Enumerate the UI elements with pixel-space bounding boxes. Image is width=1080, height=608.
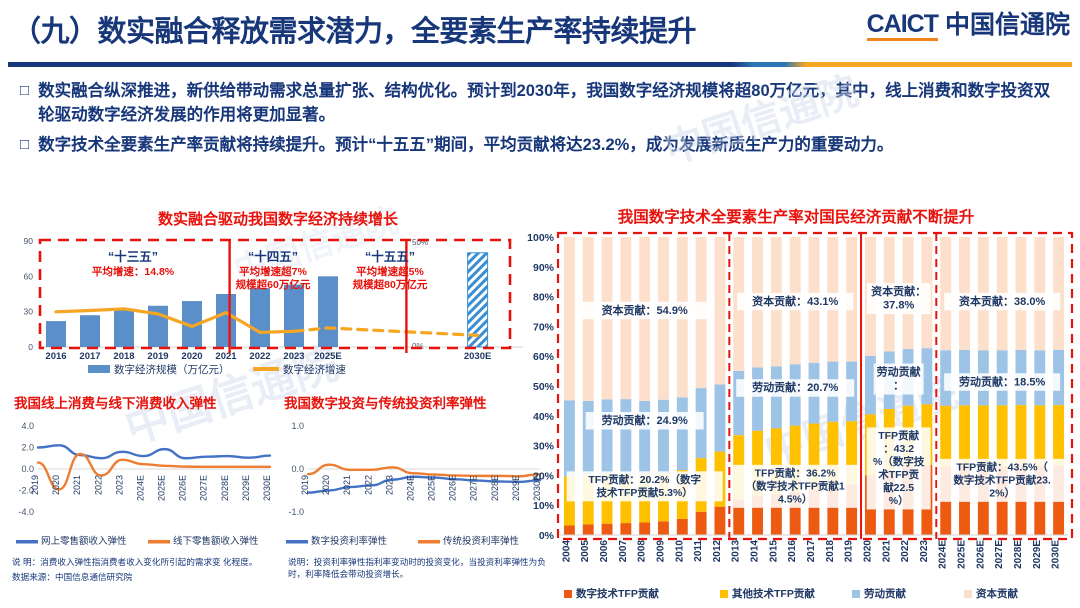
bar (284, 285, 304, 347)
annotation-line: 平均增速超5% (356, 265, 424, 278)
stacked-bar-segment (564, 400, 575, 476)
svg-text:数字技术TFP贡献23.: 数字技术TFP贡献23. (952, 473, 1051, 486)
x-tick-label: 2023 (384, 475, 394, 495)
y-tick-label: 50% (533, 381, 555, 393)
x-tick-label: 2025E (157, 475, 167, 501)
svg-text:数字投资利率弹性: 数字投资利率弹性 (311, 535, 388, 547)
svg-text:线下零售额收入弹性: 线下零售额收入弹性 (173, 535, 259, 547)
x-tick-label: 2027E (469, 475, 479, 501)
svg-text:2018: 2018 (113, 351, 134, 362)
bar (114, 310, 134, 347)
svg-text:%）: %） (889, 494, 909, 507)
x-tick-label: 2030E (262, 475, 272, 501)
page-header: （九）数实融合释放需求潜力，全要素生产率持续提升 CAICT 中国信通院 (0, 0, 1080, 70)
bar (318, 276, 338, 347)
annotation-title: “十五五” (365, 249, 415, 264)
bar (80, 315, 100, 347)
stacked-bar-segment (714, 385, 725, 452)
stacked-bar-segment (620, 523, 631, 535)
svg-text:资本贡献: 资本贡献 (976, 587, 1018, 600)
svg-text:4.5%）: 4.5%） (778, 492, 812, 505)
x-tick-label: 2011 (693, 540, 704, 562)
svg-text:资本贡献：43.1%: 资本贡献：43.1% (752, 294, 838, 308)
x-tick-label: 2019 (844, 540, 855, 563)
x-tick-label: 2004 (561, 540, 572, 563)
svg-text:37.8%: 37.8% (883, 300, 914, 312)
stacked-bar-segment (978, 405, 989, 465)
series-line (308, 465, 540, 477)
period-label: TFP贡献：36.2%（数字技术TFP贡献14.5%） (733, 465, 857, 508)
period-label: 资本贡献：38.0% (944, 293, 1060, 311)
x-tick-label: 2026E (448, 475, 458, 501)
period-label: TFP贡献：43.5%（数字技术TFP贡献23.2%） (937, 459, 1067, 502)
x-tick-label: 2026E (975, 540, 986, 569)
svg-text:-4.0: -4.0 (18, 507, 34, 517)
stacked-bar-segment (658, 400, 669, 474)
chart-legend: 数字投资利率弹性传统投资利率弹性 (286, 535, 520, 547)
x-tick-label: 2024E (938, 540, 949, 569)
svg-text:劳动贡献: 劳动贡献 (877, 365, 921, 379)
caict-logo: CAICT 中国信通院 (867, 12, 1070, 41)
chart-legend: 数字经济规模（万亿元）数字经济增速 (88, 363, 346, 376)
bullet-text: 数字技术全要素生产率贡献将持续提升。预计“十五五”期间，平均贡献将达23.2%，… (38, 134, 893, 158)
y-tick-label: 0% (539, 530, 555, 542)
x-tick-label: 2024E (405, 475, 415, 501)
x-tick-label: 2028E (220, 475, 230, 501)
bullet-list: □ 数实融合纵深推进，新供给带动需求总量扩张、结构优化。预计到2030年，我国数… (20, 80, 1065, 164)
x-tick-label: 2021 (342, 475, 352, 495)
x-tick-label: 2006 (599, 540, 610, 563)
x-tick-label: 2015 (768, 540, 779, 563)
svg-text:网上零售额收入弹性: 网上零售额收入弹性 (41, 535, 127, 547)
svg-text:2025E: 2025E (314, 351, 341, 362)
x-tick-label: 2022 (93, 475, 103, 495)
svg-text:0: 0 (28, 342, 33, 352)
chart-title: 我国数字技术全要素生产率对国民经济贡献不断提升 (512, 205, 1080, 227)
stacked-bar-segment (959, 405, 970, 466)
svg-text:劳动贡献：18.5%: 劳动贡献：18.5% (959, 374, 1045, 388)
period-label: TFP贡献：20.2%（数字技术TFP贡献5.3%） (567, 471, 723, 501)
svg-text:其他技术TFP贡献: 其他技术TFP贡献 (732, 587, 815, 600)
period-label: TFP贡献：43.2%（数字技术TFP贡献22.5%） (867, 427, 931, 509)
note-right: 说明：投资利率弹性指利率变动时的投资变化，当投资利率弹性为负时，利率降低会带动投… (288, 556, 550, 581)
note-text: 说明：投资利率弹性指利率变动时的投资变化，当投资利率弹性为负时，利率降低会带动投… (288, 556, 550, 581)
svg-text:2020: 2020 (181, 351, 202, 362)
x-tick-label: 2007 (618, 540, 629, 563)
x-tick-label: 2020 (51, 475, 61, 495)
svg-text:资本贡献：38.0%: 资本贡献：38.0% (959, 294, 1045, 308)
svg-text:：43.2: ：43.2 (883, 443, 914, 455)
svg-text:2019: 2019 (147, 351, 168, 362)
x-tick-label: 2020 (862, 540, 873, 563)
chart-consumption-elasticity: 我国线上消费与线下消费收入弹性 -4.0-2.00.02.04.02019202… (8, 392, 280, 552)
svg-text:2030E: 2030E (464, 351, 491, 362)
svg-text:数字技术TFP贡献: 数字技术TFP贡献 (575, 587, 659, 600)
svg-text:TFP贡献：36.2%: TFP贡献：36.2% (755, 466, 837, 479)
y-tick-label: 90% (533, 262, 555, 274)
bullet-marker-icon: □ (20, 80, 29, 128)
x-tick-label: 2016 (787, 540, 798, 563)
stacked-bar-segment (1053, 405, 1064, 465)
annotation-line: 规模超80万亿元 (353, 278, 428, 291)
x-tick-label: 2028E (490, 475, 500, 501)
chart-canvas: 0%10%20%30%40%50%60%70%80%90%100%2004200… (512, 227, 1080, 607)
annotation-title: “十三五” (108, 249, 158, 264)
svg-text:2021: 2021 (215, 351, 237, 362)
y-tick-label: 40% (533, 411, 555, 423)
list-item: □ 数字技术全要素生产率贡献将持续提升。预计“十五五”期间，平均贡献将达23.2… (20, 134, 1065, 158)
stacked-bar-segment (771, 366, 782, 428)
x-tick-label: 2014 (750, 540, 761, 563)
svg-text:：: ： (893, 380, 904, 392)
chart-canvas: -4.0-2.00.02.04.020192020202120222023202… (8, 412, 280, 554)
svg-text:劳动贡献：24.9%: 劳动贡献：24.9% (602, 413, 688, 427)
svg-text:0.0: 0.0 (21, 464, 34, 474)
svg-text:2022: 2022 (249, 351, 270, 362)
bar (250, 288, 270, 347)
y-tick-label: 80% (533, 292, 555, 304)
bullet-marker-icon: □ (20, 134, 29, 158)
stacked-bar-segment (564, 525, 575, 535)
x-tick-label: 2029E (241, 475, 251, 501)
header-divider (8, 62, 1072, 67)
logo-en-text: CAICT (867, 12, 938, 41)
stacked-bar-segment (602, 524, 613, 535)
x-tick-label: 2025E (427, 475, 437, 501)
x-tick-label: 2010 (674, 540, 685, 563)
stacked-bar-segment (1034, 405, 1045, 465)
svg-text:1.0: 1.0 (291, 421, 304, 431)
x-tick-label: 2027E (199, 475, 209, 501)
stacked-bar-segment (1016, 405, 1027, 465)
stacked-bar-segment (714, 507, 725, 535)
svg-text:60: 60 (24, 271, 34, 281)
x-tick-label: 2023 (919, 540, 930, 563)
note-text: 说 明：消费收入弹性指消费者收入变化所引起的需求变 化程度。 (12, 556, 270, 568)
bar (468, 253, 488, 347)
svg-text:90: 90 (24, 236, 34, 246)
stacked-bar-segment (677, 519, 688, 535)
svg-text:2.0: 2.0 (21, 443, 34, 453)
svg-text:（数字技术TFP贡献1: （数字技术TFP贡献1 (746, 479, 845, 492)
stacked-bar-segment (639, 522, 650, 535)
svg-text:献22.5: 献22.5 (883, 481, 914, 494)
svg-text:0.0: 0.0 (291, 464, 304, 474)
svg-text:%（数字技: %（数字技 (873, 455, 925, 468)
stacked-bar-segment (677, 397, 688, 470)
stacked-bar-segment (602, 399, 613, 473)
stacked-bar-segment (583, 524, 594, 535)
x-tick-label: 2009 (655, 540, 666, 563)
x-tick-label: 2030E (1051, 540, 1062, 569)
bar (46, 321, 66, 347)
note-source: 数据来源：中国信息通信研究院 (12, 571, 270, 583)
chart-title: 数实融合驱动我国数字经济持续增长 (8, 208, 548, 229)
x-tick-label: 2023 (114, 475, 124, 495)
x-tick-label: 2018 (825, 540, 836, 563)
x-tick-label: 2028E (1013, 540, 1024, 569)
page-title: （九）数实融合释放需求潜力，全要素生产率持续提升 (12, 8, 696, 50)
stacked-bar-segment (639, 401, 650, 474)
y-tick-label: 30% (533, 441, 555, 453)
x-tick-label: 2024E (135, 475, 145, 501)
svg-text:2023: 2023 (283, 351, 304, 362)
x-tick-label: 2019 (300, 475, 310, 495)
x-tick-label: 2017 (806, 540, 817, 563)
y-tick-label: 20% (533, 470, 555, 482)
period-label: 资本贡献：54.9% (582, 302, 708, 320)
stacked-bar-segment (620, 399, 631, 474)
x-tick-label: 2022 (363, 475, 373, 495)
chart-legend: 网上零售额收入弹性线下零售额收入弹性 (16, 535, 259, 547)
stacked-bar-segment (752, 368, 763, 431)
x-tick-label: 2025E (957, 540, 968, 569)
x-tick-label: 2029E (1032, 540, 1043, 569)
svg-text:2016: 2016 (45, 351, 66, 362)
annotation-line: 平均增速超7% (239, 265, 307, 278)
chart-canvas: 030609050%0%2016201720182019202020212022… (8, 229, 548, 391)
x-tick-label: 2008 (637, 540, 648, 563)
y-tick-label: 60% (533, 351, 555, 363)
list-item: □ 数实融合纵深推进，新供给带动需求总量扩张、结构优化。预计到2030年，我国数… (20, 80, 1065, 128)
period-label: 资本贡献：43.1% (737, 293, 853, 311)
svg-text:-1.0: -1.0 (288, 507, 304, 517)
svg-text:TFP贡献: TFP贡献 (878, 429, 919, 442)
x-tick-label: 2022 (900, 540, 911, 563)
svg-text:术TFP贡: 术TFP贡 (877, 468, 919, 481)
x-tick-label: 2013 (731, 540, 742, 563)
bar (216, 294, 236, 347)
stacked-bar-segment (658, 521, 669, 535)
bullet-text: 数实融合纵深推进，新供给带动需求总量扩张、结构优化。预计到2030年，我国数字经… (38, 80, 1065, 128)
period-label: 劳动贡献：18.5% (944, 373, 1060, 391)
chart-title: 我国线上消费与线下消费收入弹性 (8, 392, 280, 412)
x-tick-label: 2019 (30, 475, 40, 495)
x-tick-label: 2005 (580, 540, 591, 563)
svg-text:资本贡献：: 资本贡献： (871, 284, 926, 298)
y-tick-label: 100% (527, 232, 555, 244)
chart-digital-economy-growth: 数实融合驱动我国数字经济持续增长 030609050%0%20162017201… (8, 208, 548, 390)
svg-text:TFP贡献：43.5%（: TFP贡献：43.5%（ (956, 460, 1048, 473)
svg-text:2017: 2017 (79, 351, 100, 362)
period-label: 资本贡献：37.8% (867, 283, 931, 314)
x-tick-label: 2027E (994, 540, 1005, 569)
svg-text:资本贡献：54.9%: 资本贡献：54.9% (602, 303, 688, 317)
note-left: 说 明：消费收入弹性指消费者收入变化所引起的需求变 化程度。 数据来源：中国信息… (12, 556, 270, 584)
y-tick-label: 10% (533, 500, 555, 512)
annotation-title: “十四五” (248, 249, 298, 264)
stacked-bar-segment (997, 405, 1008, 465)
period-label: 劳动贡献：20.7% (736, 379, 854, 397)
stacked-bar-segment (696, 512, 707, 535)
svg-text:技术TFP贡献5.3%）: 技术TFP贡献5.3%） (597, 486, 693, 499)
svg-text:2%）: 2%） (989, 486, 1015, 499)
svg-text:数字经济规模（万亿元）: 数字经济规模（万亿元） (114, 363, 230, 376)
x-tick-label: 2012 (712, 540, 723, 563)
x-tick-label: 2021 (881, 540, 892, 563)
annotation-line: 平均增速：14.8% (92, 265, 175, 278)
series-line (38, 445, 270, 458)
svg-text:数字经济增速: 数字经济增速 (283, 363, 346, 376)
svg-text:劳动贡献：20.7%: 劳动贡献：20.7% (752, 380, 838, 394)
svg-text:4.0: 4.0 (21, 421, 34, 431)
annotation-line: 规模超60万亿元 (236, 278, 311, 291)
period-label: 劳动贡献： (874, 364, 924, 395)
svg-text:传统投资利率弹性: 传统投资利率弹性 (443, 535, 520, 547)
svg-text:劳动贡献: 劳动贡献 (864, 587, 906, 600)
chart-legend: 数字技术TFP贡献其他技术TFP贡献劳动贡献资本贡献 (564, 587, 1018, 600)
stacked-bar-segment (940, 406, 951, 467)
x-tick-label: 2021 (72, 475, 82, 495)
x-tick-label: 2020 (321, 475, 331, 495)
y-tick-label: 70% (533, 321, 555, 333)
logo-cn-text: 中国信通院 (945, 13, 1070, 41)
period-label: 劳动贡献：24.9% (586, 412, 704, 430)
svg-text:TFP贡献：20.2%（数字: TFP贡献：20.2%（数字 (588, 473, 701, 486)
stacked-bar-segment (583, 401, 594, 475)
stacked-bar-segment (714, 237, 725, 385)
svg-text:30: 30 (24, 307, 34, 317)
stacked-bar-segment (564, 237, 575, 400)
x-tick-label: 2026E (178, 475, 188, 501)
chart-tfp-contribution: 我国数字技术全要素生产率对国民经济贡献不断提升 0%10%20%30%40%50… (512, 205, 1080, 608)
